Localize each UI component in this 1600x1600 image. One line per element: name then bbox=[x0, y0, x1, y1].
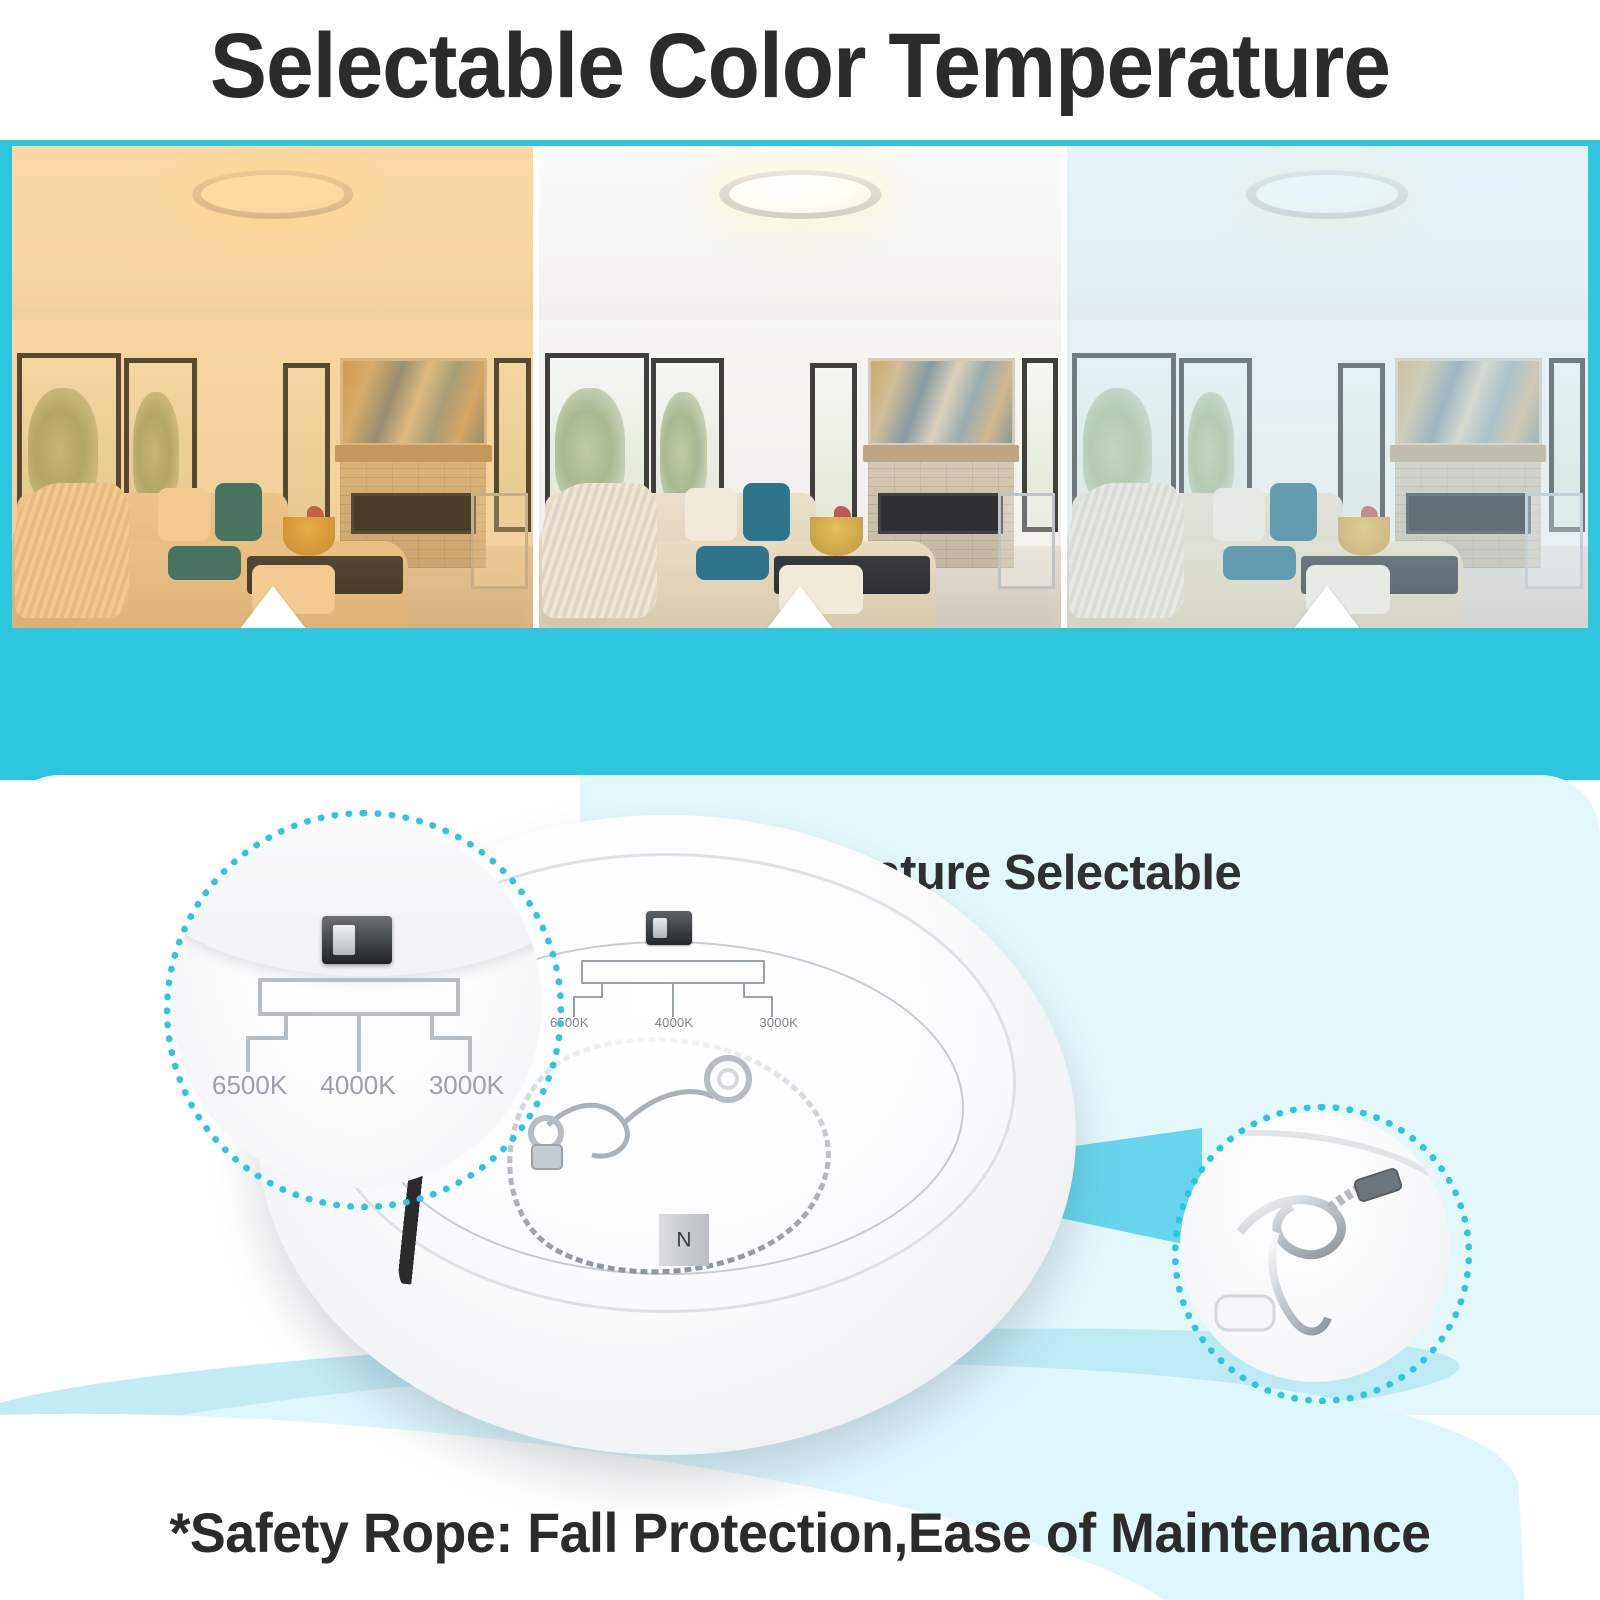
room-photo-row bbox=[12, 146, 1588, 628]
infographic-root: Selectable Color Temperature bbox=[0, 0, 1600, 1600]
wire-label-tag: N bbox=[659, 1214, 709, 1266]
pointer-triangle-cool bbox=[1293, 586, 1361, 628]
pointer-triangle-neutral bbox=[766, 586, 834, 628]
footer-caption: *Safety Rope: Fall Protection,Ease of Ma… bbox=[32, 1500, 1568, 1565]
photo-strip: 3000K Warm white 4000K Neutral white 650… bbox=[0, 140, 1600, 780]
room-photo-warm-white bbox=[12, 146, 533, 628]
pointer-triangle-warm bbox=[239, 586, 307, 628]
callout-ring-right bbox=[1172, 1104, 1472, 1404]
ceiling-fixture-icon bbox=[192, 170, 354, 218]
page-title: Selectable Color Temperature bbox=[56, 6, 1544, 126]
room-photo-neutral-white bbox=[539, 146, 1060, 628]
ceiling-fixture-icon bbox=[719, 170, 881, 218]
callout-ring-left bbox=[164, 810, 564, 1210]
ceiling-fixture-icon bbox=[1247, 170, 1409, 218]
color-temperature-switch[interactable] bbox=[646, 911, 692, 945]
room-photo-cool-white bbox=[1067, 146, 1588, 628]
